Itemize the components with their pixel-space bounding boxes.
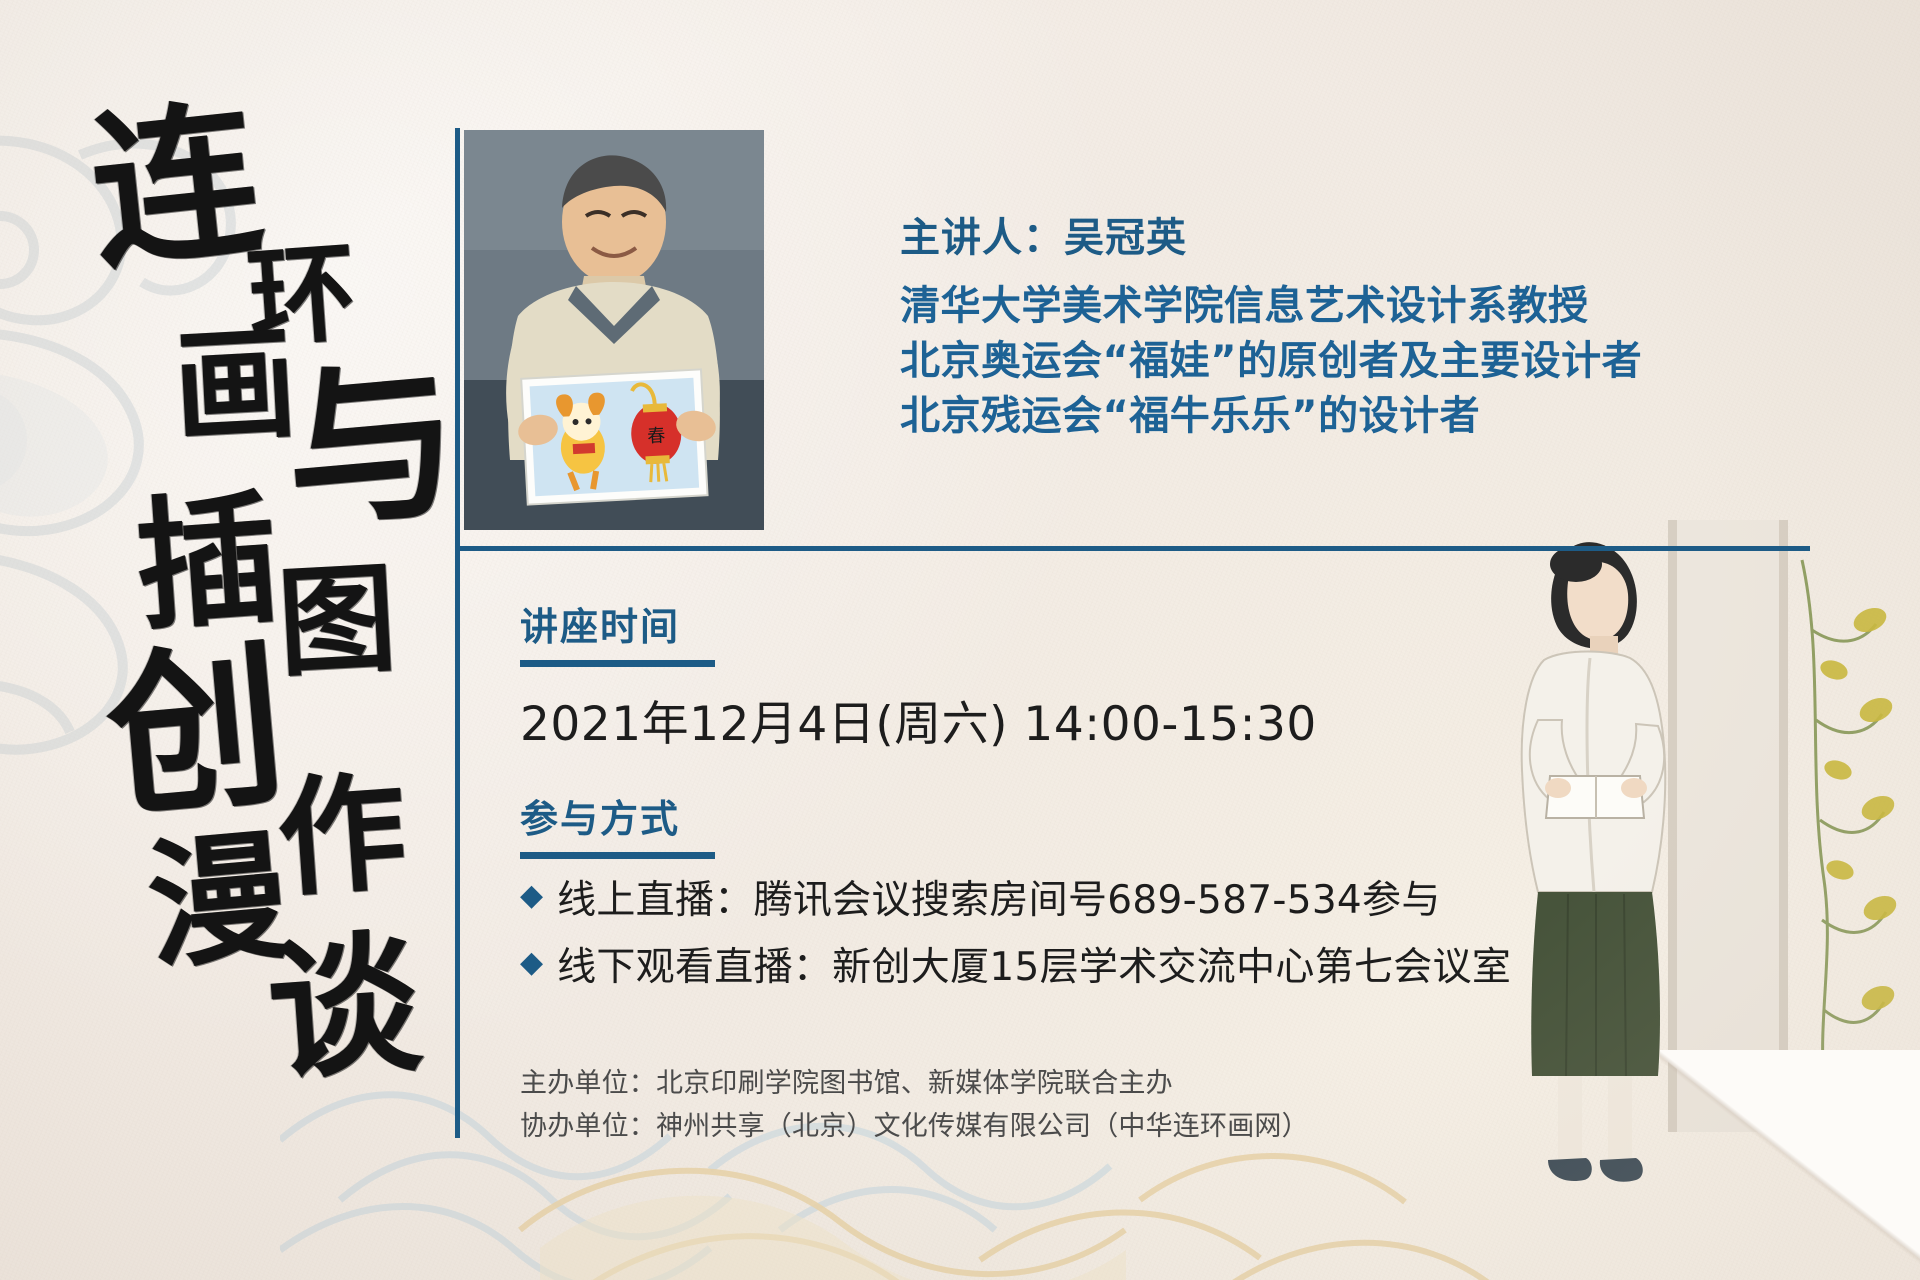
svg-text:春: 春: [647, 425, 666, 447]
speaker-name: 主讲人：吴冠英: [900, 205, 1850, 263]
join-item-online: ◆ 线上直播：腾讯会议搜索房间号689-587-534参与: [520, 877, 1700, 926]
vertical-divider: [455, 128, 460, 1138]
diamond-bullet-icon: ◆: [520, 877, 543, 915]
footer-line-host: 主办单位：北京印刷学院图书馆、新媒体学院联合主办: [520, 1062, 1720, 1105]
event-datetime: 2021年12月4日(周六) 14:00-15:30: [520, 685, 1700, 754]
join-section-underline: [520, 852, 715, 859]
speaker-info: 主讲人：吴冠英 清华大学美术学院信息艺术设计系教授 北京奥运会“福娃”的原创者及…: [900, 205, 1850, 445]
speaker-photo: 春: [464, 130, 764, 530]
title-char-1: 连: [84, 94, 269, 279]
organizer-footer: 主办单位：北京印刷学院图书馆、新媒体学院联合主办 协办单位：神州共享（北京）文化…: [520, 1062, 1720, 1148]
join-item-offline-text: 线下观看直播：新创大厦15层学术交流中心第七会议室: [557, 944, 1511, 993]
join-item-online-text: 线上直播：腾讯会议搜索房间号689-587-534参与: [557, 877, 1441, 926]
title-char-7: 创: [101, 637, 292, 828]
title-char-10: 谈: [263, 927, 425, 1089]
time-section-underline: [520, 660, 715, 667]
join-item-offline: ◆ 线下观看直播：新创大厦15层学术交流中心第七会议室: [520, 944, 1700, 993]
footer-line-co-host: 协办单位：神州共享（北京）文化传媒有限公司（中华连环画网）: [520, 1105, 1720, 1148]
speaker-credential-1: 清华大学美术学院信息艺术设计系教授: [900, 279, 1850, 334]
diamond-bullet-icon: ◆: [520, 944, 543, 982]
speaker-credential-2: 北京奥运会“福娃”的原创者及主要设计者: [900, 334, 1850, 389]
join-section-heading: 参与方式: [520, 788, 1700, 843]
time-section-heading: 讲座时间: [520, 596, 1700, 651]
event-details: 讲座时间 2021年12月4日(周六) 14:00-15:30 参与方式 ◆ 线…: [520, 596, 1700, 993]
horizontal-divider: [455, 546, 1810, 551]
title-char-8: 作: [274, 768, 411, 905]
title-char-4: 与: [279, 353, 465, 539]
section-spacer: [520, 754, 1700, 788]
title-char-6: 图: [275, 559, 399, 683]
page-title: 连 环 画 与 插 图 创 作 漫 谈: [78, 92, 448, 1102]
poster-root: 连 环 画 与 插 图 创 作 漫 谈: [0, 0, 1920, 1280]
title-char-5: 插: [131, 487, 283, 639]
speaker-credential-3: 北京残运会“福牛乐乐”的设计者: [900, 389, 1850, 444]
